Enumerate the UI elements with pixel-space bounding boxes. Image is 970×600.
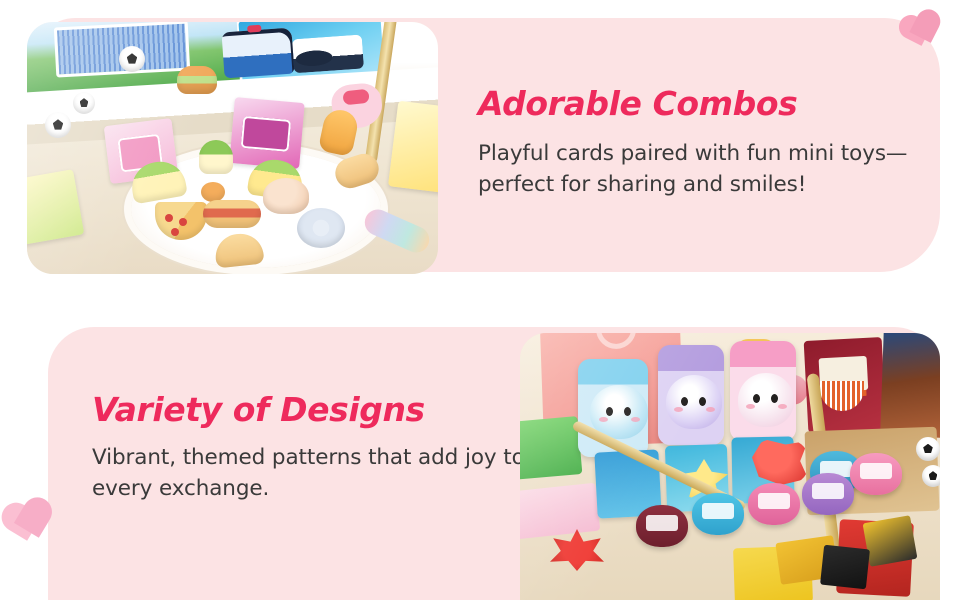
feature-description: Playful cards paired with fun mini toys—… [478, 139, 908, 201]
feature-text-adorable-combos: Adorable Combos Playful cards paired wit… [478, 86, 908, 201]
feature-banner: Adorable Combos Playful cards paired wit… [0, 0, 970, 600]
feature-description: Vibrant, themed patterns that add joy to… [92, 443, 532, 505]
feature-image-adorable-combos [27, 22, 438, 274]
feature-title: Variety of Designs [92, 392, 532, 429]
feature-text-variety-of-designs: Variety of Designs Vibrant, themed patte… [92, 392, 532, 505]
feature-image-variety-of-designs [520, 333, 940, 600]
feature-title: Adorable Combos [478, 86, 908, 123]
